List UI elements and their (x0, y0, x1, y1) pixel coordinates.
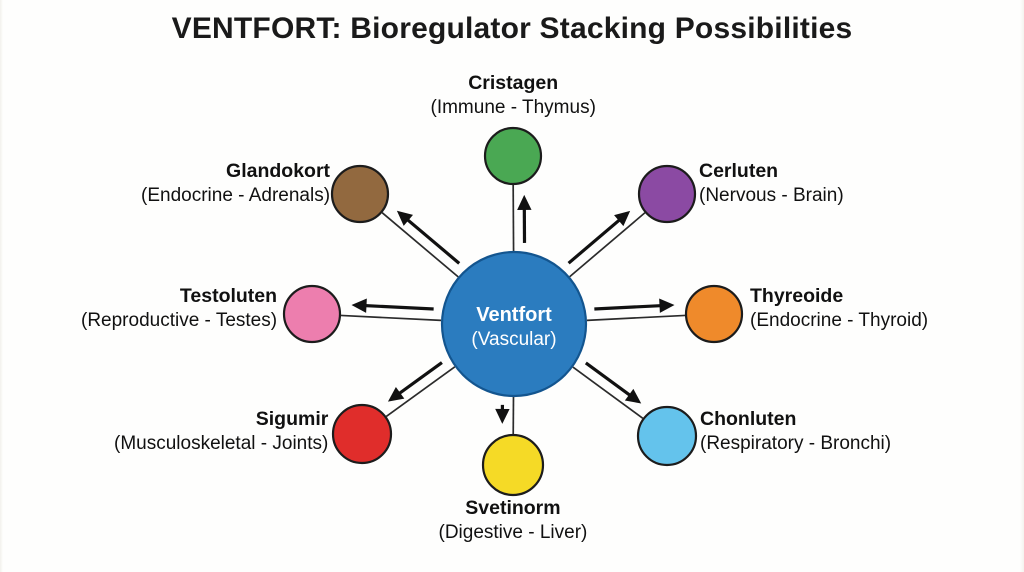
arrow-shaft (569, 217, 624, 263)
node-circle-chonluten[interactable] (638, 407, 696, 465)
arrow-shaft (404, 217, 459, 264)
node-circle-svetinorm[interactable] (483, 435, 543, 495)
node-name: Glandokort (141, 160, 330, 184)
node-name: Sigumir (114, 408, 328, 432)
arrow-glandokort (397, 211, 459, 264)
node-circle-thyreoide[interactable] (686, 286, 742, 342)
arrow-cerluten (569, 211, 631, 263)
node-label-thyreoide: Thyreoide(Endocrine - Thyroid) (750, 285, 928, 332)
node-system: (Musculoskeletal - Joints) (114, 432, 328, 455)
node-system: (Digestive - Liver) (439, 521, 588, 544)
node-name: Cerluten (699, 160, 844, 184)
node-circle-glandokort[interactable] (332, 166, 388, 222)
node-circle-testoluten[interactable] (284, 286, 340, 342)
hub-node[interactable]: Ventfort (Vascular) (442, 252, 586, 396)
node-circle-cerluten[interactable] (639, 166, 695, 222)
node-system: (Endocrine - Adrenals) (141, 184, 330, 207)
arrow-shaft (594, 305, 665, 309)
arrow-shaft (360, 305, 433, 309)
node-circle-cristagen[interactable] (485, 128, 541, 184)
connector-line-cerluten (570, 213, 645, 277)
node-label-svetinorm: Svetinorm(Digestive - Liver) (439, 497, 588, 544)
arrow-head (625, 389, 641, 404)
node-label-cerluten: Cerluten(Nervous - Brain) (699, 160, 844, 207)
diagram-page: VENTFORT: Bioregulator Stacking Possibil… (0, 0, 1024, 572)
node-system: (Respiratory - Bronchi) (700, 432, 891, 455)
arrow-shaft (586, 363, 634, 398)
arrow-head (495, 409, 509, 424)
arrow-cristagen (517, 195, 531, 243)
node-label-chonluten: Chonluten(Respiratory - Bronchi) (700, 408, 891, 455)
hub-name-label: Ventfort (476, 304, 552, 326)
node-circle-sigumir[interactable] (333, 405, 391, 463)
connector-line-thyreoide (587, 315, 685, 320)
arrow-testoluten (351, 298, 433, 312)
node-label-sigumir: Sigumir(Musculoskeletal - Joints) (114, 408, 328, 455)
node-system: (Endocrine - Thyroid) (750, 309, 928, 332)
node-name: Svetinorm (439, 497, 588, 521)
node-system: (Reproductive - Testes) (81, 309, 277, 332)
connector-line-testoluten (341, 315, 441, 320)
arrow-head (659, 299, 674, 313)
arrow-shaft (395, 363, 442, 397)
connector-line-glandokort (382, 213, 458, 277)
arrow-head (388, 387, 404, 402)
node-label-cristagen: Cristagen(Immune - Thymus) (431, 72, 596, 119)
arrow-head (351, 298, 366, 312)
hub-system-label: (Vascular) (471, 329, 556, 350)
node-label-testoluten: Testoluten(Reproductive - Testes) (81, 285, 277, 332)
node-label-glandokort: Glandokort(Endocrine - Adrenals) (141, 160, 330, 207)
node-system: (Nervous - Brain) (699, 184, 844, 207)
node-name: Chonluten (700, 408, 891, 432)
arrow-head (517, 195, 531, 210)
arrow-thyreoide (594, 299, 674, 313)
node-name: Cristagen (431, 72, 596, 96)
arrow-svetinorm (495, 405, 509, 424)
node-system: (Immune - Thymus) (431, 96, 596, 119)
node-name: Testoluten (81, 285, 277, 309)
node-name: Thyreoide (750, 285, 928, 309)
